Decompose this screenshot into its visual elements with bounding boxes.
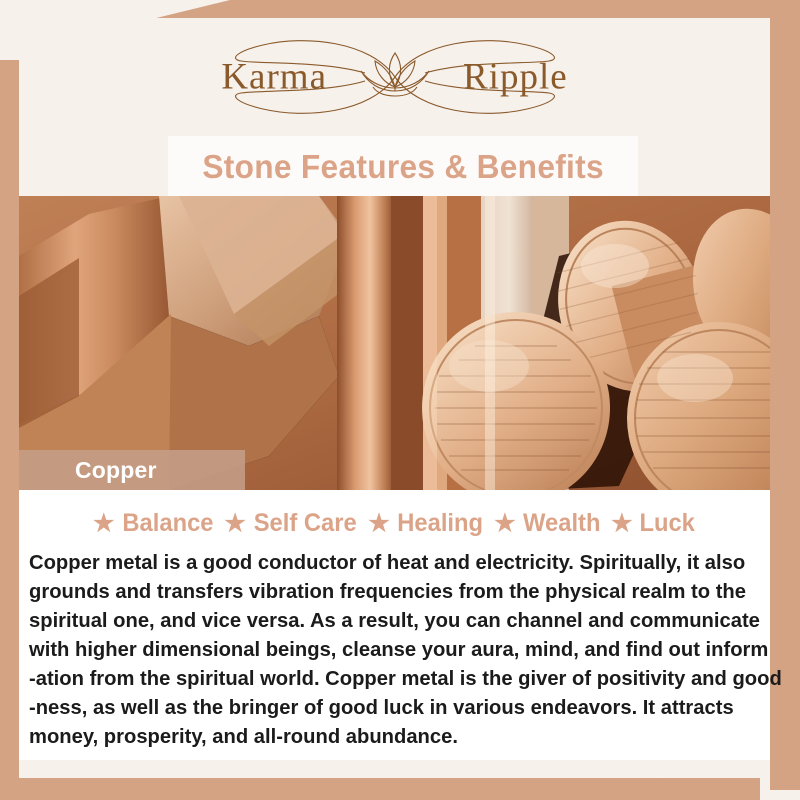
star-icon: ★ <box>224 509 246 538</box>
hero-caption-label: Copper <box>75 457 157 484</box>
feature-item-self-care: ★ Self Care <box>224 509 359 538</box>
feature-item-wealth: ★ Wealth <box>494 509 602 538</box>
brand-name-left: Karma <box>221 55 327 98</box>
page-title: Stone Features & Benefits <box>202 148 604 186</box>
star-icon: ★ <box>93 509 115 538</box>
description-line: -ation from the spiritual world. Copper … <box>29 664 747 693</box>
content-panel: ★ Balance ★ Self Care ★ Healing ★ Wealth… <box>19 490 770 760</box>
page-title-banner: Stone Features & Benefits <box>168 136 638 198</box>
feature-item-healing: ★ Healing <box>368 509 485 538</box>
star-icon: ★ <box>368 509 390 538</box>
description-line: money, prosperity, and all-round abundan… <box>29 722 747 751</box>
feature-item-balance: ★ Balance <box>93 509 215 538</box>
brand-logo: Karma Ripple <box>19 18 770 135</box>
description-line: Copper metal is a good conductor of heat… <box>29 548 747 577</box>
feature-label: Self Care <box>254 509 357 538</box>
feature-label: Balance <box>122 509 213 538</box>
feature-label: Healing <box>397 509 483 538</box>
feature-label: Luck <box>639 509 694 538</box>
brand-name-right: Ripple <box>463 55 568 98</box>
copper-bars-photo <box>19 196 770 490</box>
hero-caption: Copper <box>19 450 245 490</box>
feature-label: Wealth <box>523 509 600 538</box>
description-text: Copper metal is a good conductor of heat… <box>19 542 770 751</box>
star-icon: ★ <box>611 509 633 538</box>
frame-border-top-diagonal <box>0 0 800 20</box>
description-line: -ness, as well as the bringer of good lu… <box>29 693 747 722</box>
feature-list: ★ Balance ★ Self Care ★ Healing ★ Wealth… <box>19 490 770 542</box>
hero-image: Copper <box>19 196 770 490</box>
description-line: spiritual one, and vice versa. As a resu… <box>29 606 747 635</box>
frame-border-left <box>0 60 19 800</box>
star-icon: ★ <box>494 509 516 538</box>
description-line: with higher dimensional beings, cleanse … <box>29 635 747 664</box>
description-line: grounds and transfers vibration frequenc… <box>29 577 747 606</box>
page-frame: Karma Ripple Stone Features & Benefits <box>0 0 800 800</box>
feature-item-luck: ★ Luck <box>611 509 696 538</box>
